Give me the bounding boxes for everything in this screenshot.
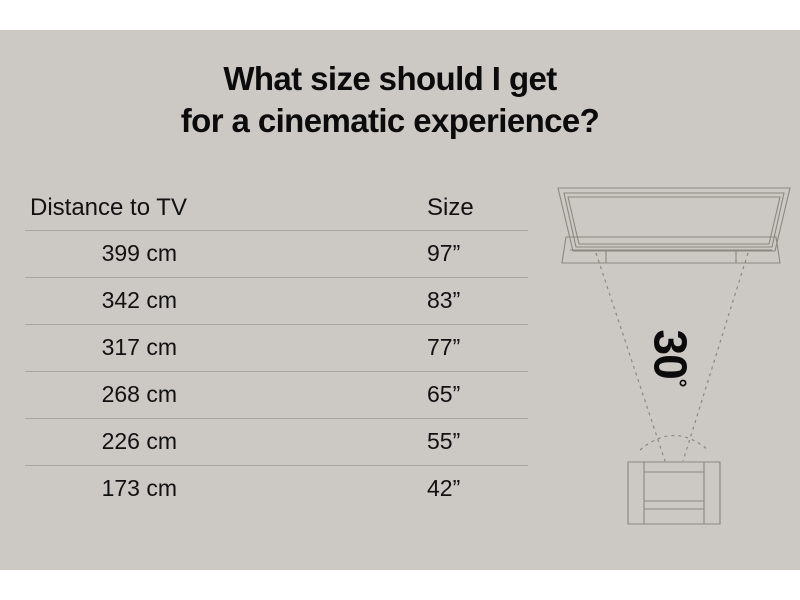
cell-size: 65” bbox=[427, 371, 460, 418]
tv-stand-icon bbox=[562, 237, 780, 263]
title-line-1: What size should I get bbox=[0, 58, 780, 100]
column-header-size: Size bbox=[427, 185, 474, 230]
table-row: 342 cm 83” bbox=[25, 277, 528, 324]
viewing-angle-diagram bbox=[548, 185, 800, 530]
cell-distance: 317 cm bbox=[25, 324, 177, 371]
tv-top-view-icon bbox=[558, 188, 790, 251]
title-line-2: for a cinematic experience? bbox=[0, 100, 780, 142]
table-row: 173 cm 42” bbox=[25, 465, 528, 512]
cell-distance: 173 cm bbox=[25, 465, 177, 512]
cell-size: 77” bbox=[427, 324, 460, 371]
column-header-distance: Distance to TV bbox=[30, 185, 330, 230]
table-row: 226 cm 55” bbox=[25, 418, 528, 465]
size-table: Distance to TV Size 399 cm 97” 342 cm 83… bbox=[25, 185, 528, 512]
table-row: 399 cm 97” bbox=[25, 230, 528, 277]
table-header-row: Distance to TV Size bbox=[25, 185, 528, 230]
cell-distance: 399 cm bbox=[25, 230, 177, 277]
cell-distance: 226 cm bbox=[25, 418, 177, 465]
cell-size: 42” bbox=[427, 465, 460, 512]
cell-size: 97” bbox=[427, 230, 460, 277]
page-title: What size should I get for a cinematic e… bbox=[0, 58, 780, 142]
infographic-canvas: What size should I get for a cinematic e… bbox=[0, 30, 800, 570]
sofa-top-view-icon bbox=[628, 462, 720, 524]
cell-distance: 342 cm bbox=[25, 277, 177, 324]
cell-distance: 268 cm bbox=[25, 371, 177, 418]
cell-size: 83” bbox=[427, 277, 460, 324]
cell-size: 55” bbox=[427, 418, 460, 465]
table-row: 317 cm 77” bbox=[25, 324, 528, 371]
table-row: 268 cm 65” bbox=[25, 371, 528, 418]
viewing-angle-cone-icon bbox=[596, 253, 748, 461]
